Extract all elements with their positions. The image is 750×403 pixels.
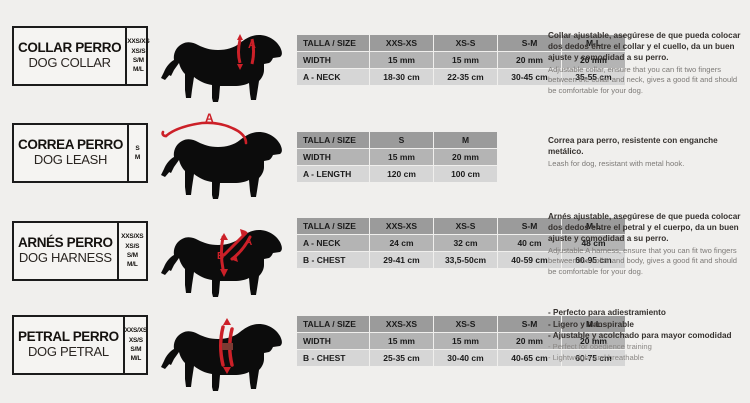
table-header-cell: XS-S	[434, 316, 498, 333]
size-option: M/L	[127, 260, 138, 269]
size-option: S/M	[133, 56, 144, 65]
feature-item-en: - Perfect for obedience training	[548, 342, 744, 353]
table-header-cell: XS-S	[434, 218, 498, 235]
description-dog-collar: Collar ajustable, asegúrese de que pueda…	[548, 30, 744, 96]
product-name-en: DOG HARNESS	[19, 251, 112, 266]
table-header-cell: TALLA / SIZE	[297, 316, 370, 333]
leash-hook-icon	[163, 132, 166, 136]
description-dog-leash: Correa para perro, resistente con enganc…	[548, 135, 744, 169]
table-cell: 25-35 cm	[370, 350, 434, 367]
description-es: Collar ajustable, asegúrese de que pueda…	[548, 30, 744, 63]
dog-leash-diagram: A	[160, 109, 290, 205]
table-cell: 33,5-50cm	[434, 252, 498, 269]
table-header-row: TALLA / SIZE S M	[297, 132, 498, 149]
description-en: Adjustable A harness, ensure that you ca…	[548, 246, 744, 277]
description-en: Adjustable collar, ensure that you can f…	[548, 65, 744, 96]
product-name-text: ARNÉS PERRO DOG HARNESS	[14, 223, 117, 279]
size-table-dog-leash: TALLA / SIZE S M WIDTH 15 mm 20 mm A - L…	[296, 131, 498, 183]
size-option: XS/S	[131, 47, 145, 56]
size-option: M/L	[133, 65, 144, 74]
size-option: S/M	[130, 345, 141, 354]
product-name-es: PETRAL PERRO	[18, 330, 119, 345]
product-name-box: ARNÉS PERRO DOG HARNESS XXS/XS XS/S S/M …	[12, 221, 148, 281]
size-option: XXS/XS	[127, 37, 149, 46]
dog-harness-diagram: A B	[160, 207, 290, 303]
table-row: WIDTH 15 mm 20 mm	[297, 149, 498, 166]
product-name-text: CORREA PERRO DOG LEASH	[14, 125, 127, 181]
product-name-text: COLLAR PERRO DOG COLLAR	[14, 28, 125, 84]
product-row-dog-leash: CORREA PERRO DOG LEASH S M A	[0, 105, 750, 205]
size-option: XXS/XS	[125, 326, 147, 335]
marker-label-b: B	[217, 251, 224, 262]
feature-item-es: - Ligero y transpirable	[548, 319, 744, 331]
size-guide-sheet: COLLAR PERRO DOG COLLAR XXS/XS XS/S S/M …	[0, 0, 750, 403]
table-row-label: WIDTH	[297, 333, 370, 350]
product-size-list: XXS/XS XS/S S/M M/L	[117, 223, 146, 279]
table-header-cell: XXS-XS	[370, 218, 434, 235]
table-header-cell: XS-S	[434, 35, 498, 52]
product-size-list: XXS/XS XS/S S/M M/L	[125, 28, 149, 84]
feature-item-es: - Perfecto para adiestramiento	[548, 307, 744, 319]
collar-arrow-up-icon	[237, 34, 243, 40]
description-dog-harness: Arnés ajustable, asegúrese de que pueda …	[548, 211, 744, 277]
product-name-es: CORREA PERRO	[18, 138, 123, 153]
size-option: S/M	[127, 251, 138, 260]
product-row-dog-harness: ARNÉS PERRO DOG HARNESS XXS/XS XS/S S/M …	[0, 203, 750, 303]
table-cell: 15 mm	[370, 52, 434, 69]
table-cell: 24 cm	[370, 235, 434, 252]
table-cell: 100 cm	[434, 166, 498, 183]
size-option: S	[135, 144, 139, 153]
description-es: Arnés ajustable, asegúrese de que pueda …	[548, 211, 744, 244]
marker-label-a: A	[248, 39, 256, 51]
table-header-cell: TALLA / SIZE	[297, 132, 370, 149]
table-cell: 15 mm	[370, 149, 434, 166]
description-es: Correa para perro, resistente con enganc…	[548, 135, 744, 157]
product-name-en: DOG LEASH	[34, 153, 107, 168]
marker-label-a: A	[205, 111, 214, 125]
size-option: XXS/XS	[121, 232, 143, 241]
table-row-label: B - CHEST	[297, 350, 370, 367]
table-row-label: WIDTH	[297, 149, 370, 166]
table-cell: 20 mm	[434, 149, 498, 166]
feature-list: - Perfecto para adiestramiento - Ligero …	[548, 307, 744, 363]
table-header-cell: TALLA / SIZE	[297, 35, 370, 52]
table-header-cell: M	[434, 132, 498, 149]
chest-arrow-up-icon	[220, 233, 228, 240]
table-header-cell: S	[370, 132, 434, 149]
table-cell: 29-41 cm	[370, 252, 434, 269]
product-name-text: PETRAL PERRO DOG PETRAL	[14, 317, 123, 373]
table-cell: 120 cm	[370, 166, 434, 183]
size-option: XS/S	[125, 242, 139, 251]
table-cell: 32 cm	[434, 235, 498, 252]
table-cell: 15 mm	[370, 333, 434, 350]
product-row-dog-collar: COLLAR PERRO DOG COLLAR XXS/XS XS/S S/M …	[0, 8, 750, 108]
product-name-es: COLLAR PERRO	[18, 41, 121, 56]
table-cell: 15 mm	[434, 333, 498, 350]
table-header-cell: XXS-XS	[370, 316, 434, 333]
product-name-box: PETRAL PERRO DOG PETRAL XXS/XS XS/S S/M …	[12, 315, 148, 375]
table-header-cell: XXS-XS	[370, 35, 434, 52]
table-cell: 22-35 cm	[434, 69, 498, 86]
chest-arrow-up-icon	[223, 318, 231, 325]
product-name-box: COLLAR PERRO DOG COLLAR XXS/XS XS/S S/M …	[12, 26, 148, 86]
table-header-cell: TALLA / SIZE	[297, 218, 370, 235]
dog-silhouette-icon	[161, 132, 282, 199]
table-cell: 18-30 cm	[370, 69, 434, 86]
size-option: XS/S	[129, 336, 143, 345]
size-option: M/L	[131, 354, 142, 363]
description-dog-petral: - Perfecto para adiestramiento - Ligero …	[548, 307, 744, 363]
feature-item-es: - Ajustable y acolchado para mayor comod…	[548, 330, 744, 342]
table-cell: 15 mm	[434, 52, 498, 69]
product-row-dog-petral: PETRAL PERRO DOG PETRAL XXS/XS XS/S S/M …	[0, 297, 750, 397]
dog-petral-diagram	[160, 301, 290, 397]
product-size-list: S M	[127, 125, 146, 181]
product-name-en: DOG PETRAL	[28, 345, 109, 360]
product-size-list: XXS/XS XS/S S/M M/L	[123, 317, 147, 373]
feature-item-en: - Lightweight and breathable	[548, 353, 744, 364]
size-option: M	[135, 153, 140, 162]
marker-label-b	[222, 343, 233, 350]
table-row-label: B - CHEST	[297, 252, 370, 269]
table-row-label: A - NECK	[297, 69, 370, 86]
marker-label-a: A	[245, 237, 252, 248]
leash-line-icon	[166, 123, 246, 143]
dog-silhouette-icon	[161, 35, 282, 102]
table-row-label: A - LENGTH	[297, 166, 370, 183]
table-row-label: WIDTH	[297, 52, 370, 69]
product-name-box: CORREA PERRO DOG LEASH S M	[12, 123, 148, 183]
product-name-es: ARNÉS PERRO	[18, 236, 113, 251]
dog-collar-diagram: A	[160, 12, 290, 108]
table-row-label: A - NECK	[297, 235, 370, 252]
product-name-en: DOG COLLAR	[28, 56, 110, 71]
description-en: Leash for dog, resistant with metal hook…	[548, 159, 744, 169]
table-cell: 30-40 cm	[434, 350, 498, 367]
table-row: A - LENGTH 120 cm 100 cm	[297, 166, 498, 183]
